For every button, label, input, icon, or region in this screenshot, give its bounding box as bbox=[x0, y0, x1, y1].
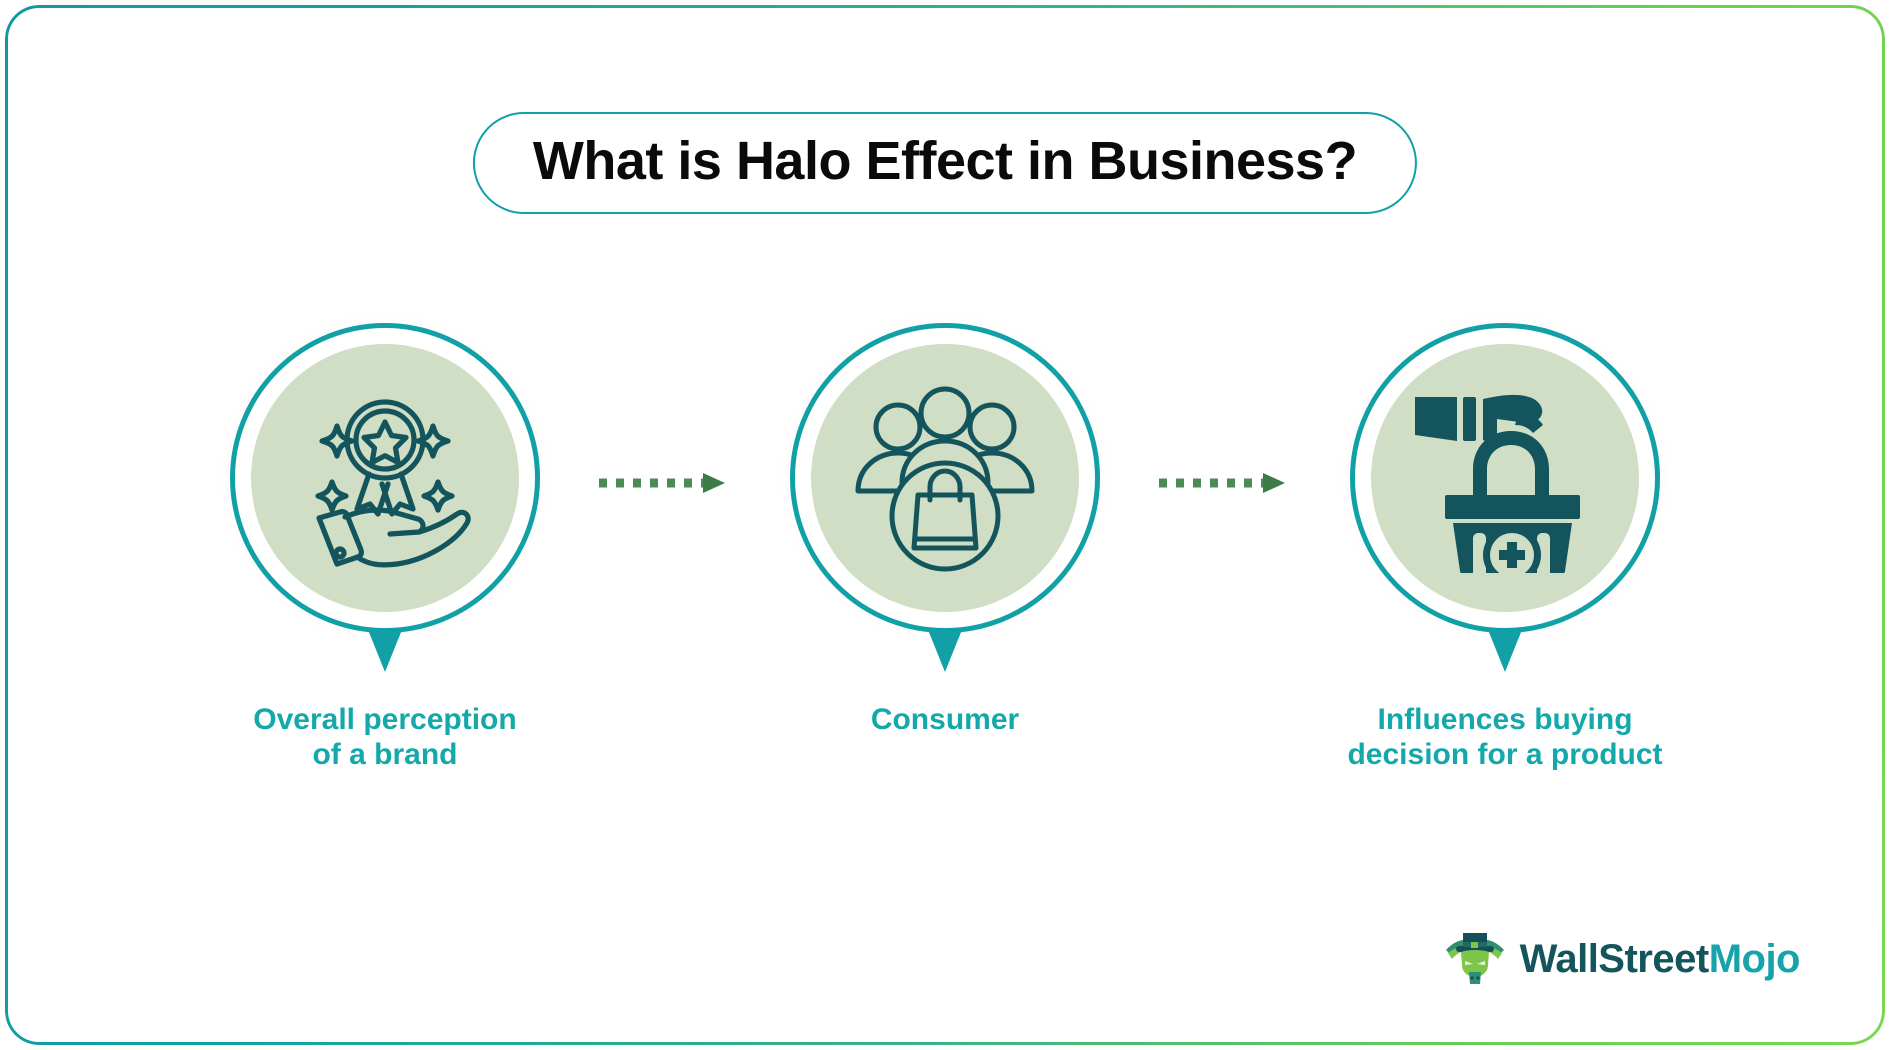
step-3: Influences buying decision for a product bbox=[1295, 318, 1715, 773]
connector-2 bbox=[1155, 470, 1295, 496]
logo-word-part1: WallStreet bbox=[1520, 937, 1709, 981]
badge-disc bbox=[1371, 344, 1639, 612]
dotted-arrow-icon bbox=[595, 470, 735, 496]
step-1-caption: Overall perception of a brand bbox=[253, 702, 516, 773]
step-2-badge bbox=[785, 318, 1105, 638]
step-3-caption: Influences buying decision for a product bbox=[1347, 702, 1662, 773]
page-title: What is Halo Effect in Business? bbox=[533, 134, 1357, 188]
badge-ring bbox=[1350, 323, 1660, 633]
logo-word-part2: Mojo bbox=[1709, 937, 1800, 981]
badge-ring bbox=[230, 323, 540, 633]
step-2: Consumer bbox=[735, 318, 1155, 737]
connector-1 bbox=[595, 470, 735, 496]
logo-wordmark: WallStreetMojo bbox=[1520, 937, 1800, 982]
badge-disc bbox=[811, 344, 1079, 612]
steps-row: Overall perception of a brand bbox=[0, 318, 1890, 773]
infographic-canvas: What is Halo Effect in Business? bbox=[0, 0, 1890, 1050]
title-pill: What is Halo Effect in Business? bbox=[473, 112, 1417, 214]
step-1-badge bbox=[225, 318, 545, 638]
consumer-group-shopping-bag-icon bbox=[850, 383, 1040, 573]
dotted-arrow-icon bbox=[1155, 470, 1295, 496]
bull-head-tophat-icon bbox=[1444, 928, 1506, 990]
wallstreetmojo-logo: WallStreetMojo bbox=[1444, 928, 1800, 990]
badge-disc bbox=[251, 344, 519, 612]
step-1: Overall perception of a brand bbox=[175, 318, 595, 773]
hand-holding-award-icon bbox=[285, 378, 485, 578]
step-3-badge bbox=[1345, 318, 1665, 638]
step-2-caption: Consumer bbox=[871, 702, 1019, 737]
badge-ring bbox=[790, 323, 1100, 633]
hand-holding-basket-icon bbox=[1405, 383, 1605, 573]
